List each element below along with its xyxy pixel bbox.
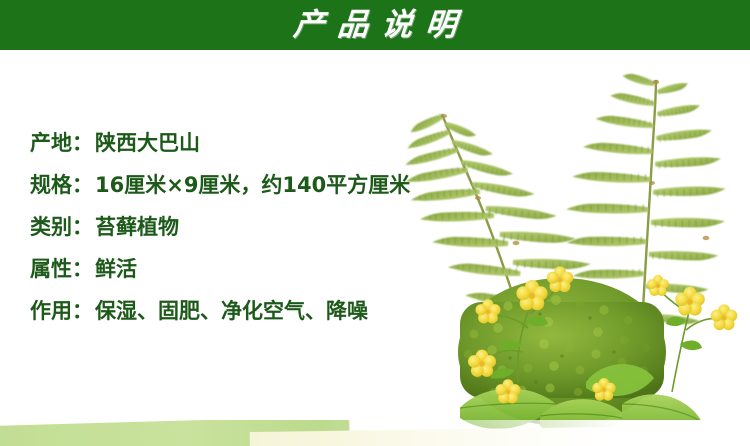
band-green-stripe [0, 420, 350, 446]
product-photo [390, 52, 750, 446]
spec-value-origin: 陕西大巴山 [95, 131, 200, 155]
page-title: 产品说明 [0, 0, 750, 50]
product-description-banner: 产品说明 产地：陕西大巴山 规格：16厘米×9厘米，约140平方厘米 类别：苔藓… [0, 0, 750, 446]
spec-value-function: 保湿、固肥、净化空气、降噪 [95, 299, 368, 323]
spec-label-size: 规格： [30, 173, 93, 197]
spec-value-category: 苔藓植物 [95, 215, 179, 239]
spec-value-size: 16厘米×9厘米，约140平方厘米 [95, 173, 410, 197]
spec-label-attribute: 属性： [30, 257, 93, 281]
spec-label-function: 作用： [30, 299, 93, 323]
spec-value-attribute: 鲜活 [95, 257, 137, 281]
header-banner: 产品说明 [0, 0, 750, 50]
spec-label-category: 类别： [30, 215, 93, 239]
spec-label-origin: 产地： [30, 131, 93, 155]
